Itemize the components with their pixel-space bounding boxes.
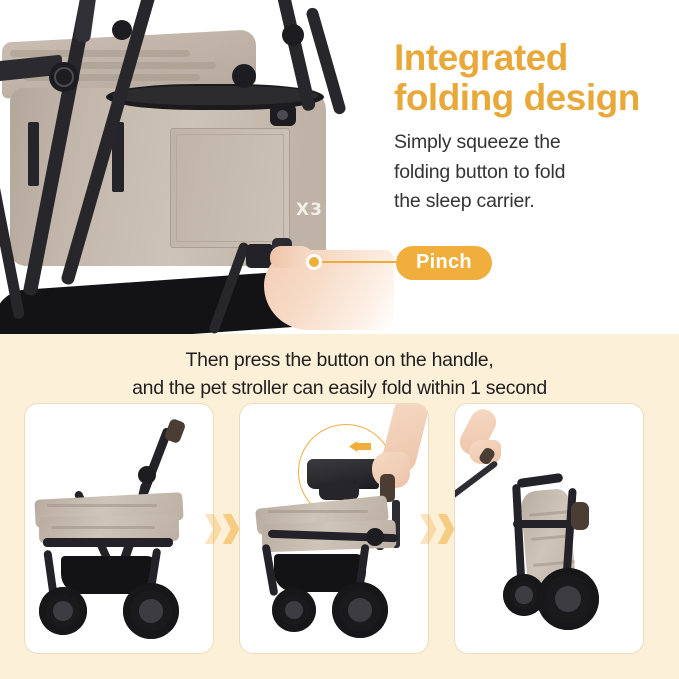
front-wheel — [272, 588, 316, 632]
step-panel-1 — [25, 404, 213, 653]
rear-wheel — [332, 582, 388, 638]
frame-joint — [366, 528, 384, 546]
chevron-right-icon — [420, 514, 437, 544]
frame-bar — [43, 538, 173, 547]
chevron-right-icon — [205, 514, 222, 544]
subcopy-line-2: folding button to fold — [394, 161, 565, 183]
subcopy-line-1: Simply squeeze the — [394, 131, 561, 153]
frame-bar — [513, 520, 575, 528]
subcopy-line-3: the sleep carrier. — [394, 190, 535, 212]
stroller-unfolded-illustration — [25, 404, 213, 653]
steps-panel-row — [0, 404, 679, 654]
callout-marker-dot — [306, 254, 322, 270]
stroller-folded-illustration — [455, 404, 643, 653]
handle-mechanism-lower — [319, 483, 359, 500]
telescopic-handle — [455, 460, 499, 517]
rear-wheel — [123, 583, 179, 639]
fabric-fold-line — [51, 526, 155, 529]
chevron-right-icon — [438, 514, 455, 544]
folding-steps-section: Then press the button on the handle, and… — [0, 334, 679, 679]
frame-joint — [282, 24, 304, 46]
chevron-right-icon — [223, 514, 240, 544]
rear-wheel — [537, 568, 599, 630]
frame-joint — [112, 20, 132, 40]
frame-bar — [517, 473, 564, 488]
headline-line-2: folding design — [394, 77, 640, 118]
carrier-rim-inner — [112, 86, 318, 105]
headline-line-1: Integrated — [394, 37, 568, 78]
carrier-pocket — [170, 128, 290, 248]
hero-section: X3 Pinch Integrated — [0, 0, 679, 334]
frame-joint — [138, 466, 156, 484]
steps-caption: Then press the button on the handle, and… — [0, 347, 679, 402]
canopy-fold-line — [10, 50, 190, 57]
caption-line-2: and the pet stroller can easily fold wit… — [132, 377, 547, 399]
fabric-fold-line — [268, 510, 368, 513]
handle-grip — [571, 502, 589, 530]
fabric-fold-line — [47, 504, 157, 507]
page-title: Integrated folding design — [394, 38, 669, 118]
arrow-left-icon — [349, 441, 371, 452]
stroller-folding-illustration — [240, 404, 428, 653]
frame-joint — [232, 64, 256, 88]
pinch-badge: Pinch — [396, 246, 492, 280]
step-panel-3 — [455, 404, 643, 653]
product-mark: X3 — [296, 200, 323, 220]
carrier-strap — [28, 122, 39, 186]
brand-logo-badge — [54, 67, 74, 87]
hero-subcopy: Simply squeeze the folding button to fol… — [394, 128, 654, 217]
stroller-hero-photo: X3 — [0, 0, 394, 334]
step-panel-2 — [240, 404, 428, 653]
carrier-knob — [270, 104, 296, 126]
caption-line-1: Then press the button on the handle, — [186, 349, 494, 371]
front-wheel — [39, 587, 87, 635]
product-feature-page: X3 Pinch Integrated — [0, 0, 679, 679]
